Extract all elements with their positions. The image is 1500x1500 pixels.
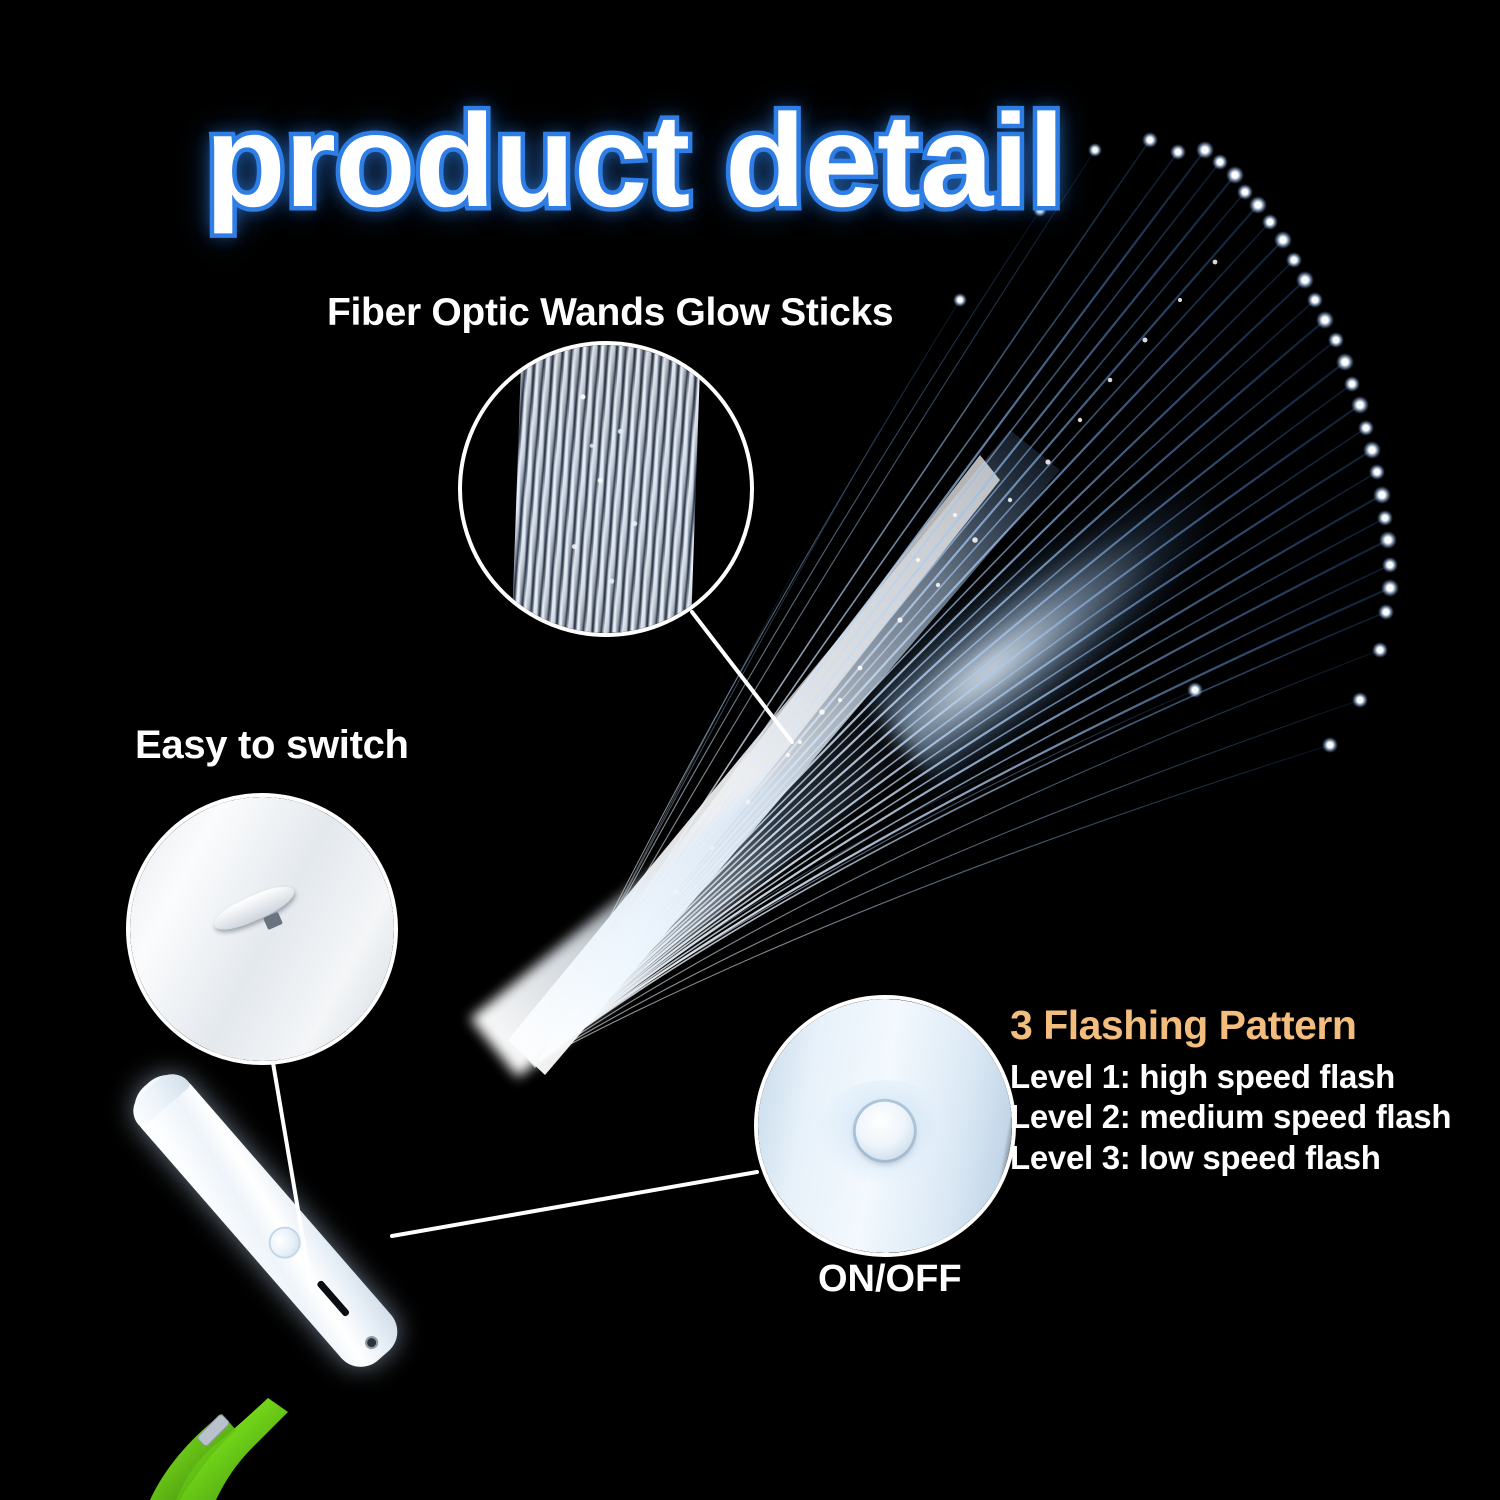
product-subtitle: Fiber Optic Wands Glow Sticks [327,291,893,335]
lanyard-strap [150,1398,288,1500]
callout-switch-closeup [126,793,398,1065]
fiber-closeup-sparkles [462,345,750,633]
flashing-level-3: Level 3: low speed flash [1010,1138,1490,1178]
callout-button-closeup [754,995,1016,1257]
handle-closeup-image [130,797,394,1061]
power-button-icon[interactable] [265,1223,305,1263]
lanyard-hole [362,1333,380,1351]
slide-switch-icon[interactable] [316,1280,350,1318]
flashing-level-1: Level 1: high speed flash [1010,1057,1490,1097]
flashing-pattern-heading: 3 Flashing Pattern [1010,1002,1490,1049]
flashing-level-2: Level 2: medium speed flash [1010,1097,1490,1137]
page-title: product detail [205,95,1064,227]
callout-label-on-off: ON/OFF [818,1258,962,1301]
flashing-pattern-block: 3 Flashing Pattern Level 1: high speed f… [1010,1002,1490,1178]
callout-fiber-closeup [458,341,754,637]
product-detail-image: product detail Fiber Optic Wands Glow St… [0,0,1500,1500]
callout-label-easy-to-switch: Easy to switch [135,723,409,768]
